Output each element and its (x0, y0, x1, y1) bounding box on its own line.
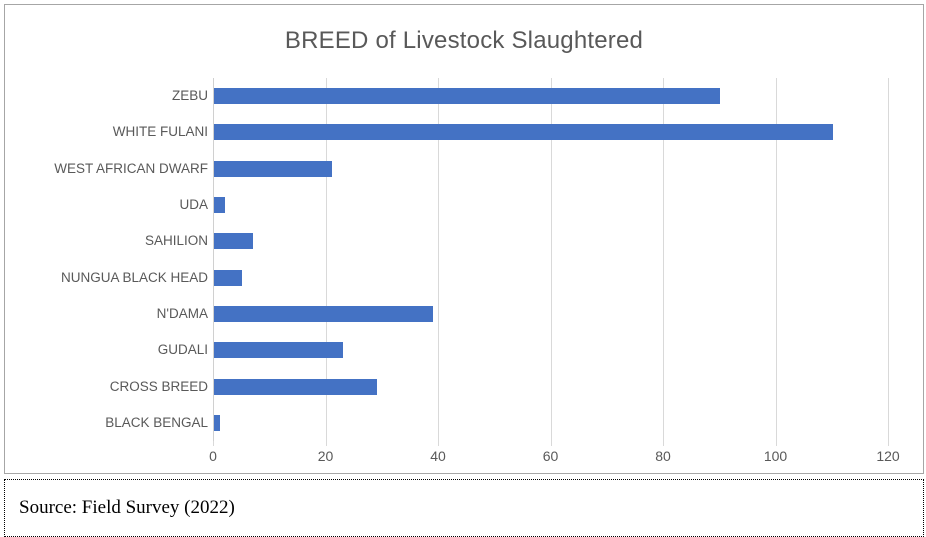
category-label-zebu: ZEBU (5, 89, 208, 103)
value-axis-label-20: 20 (318, 448, 334, 464)
category-label-west-african-dwarf: WEST AFRICAN DWARF (5, 162, 208, 176)
category-label-uda: UDA (5, 198, 208, 212)
value-axis-labels: 020406080100120 (213, 448, 888, 468)
category-label-white-fulani: WHITE FULANI (5, 125, 208, 139)
category-label-cross-breed: CROSS BREED (5, 380, 208, 394)
bar-nungua-black-head[interactable] (214, 270, 242, 286)
bar-white-fulani[interactable] (214, 124, 833, 140)
category-label-nungua-black-head: NUNGUA BLACK HEAD (5, 271, 208, 285)
bar-black-bengal[interactable] (214, 415, 220, 431)
value-axis-label-80: 80 (655, 448, 671, 464)
bar-west-african-dwarf[interactable] (214, 161, 332, 177)
bar-n-dama[interactable] (214, 306, 433, 322)
value-axis-label-120: 120 (876, 448, 899, 464)
tick-mark-120 (888, 441, 889, 446)
tick-mark-20 (326, 441, 327, 446)
tick-mark-40 (438, 441, 439, 446)
value-axis-label-100: 100 (764, 448, 787, 464)
bar-uda[interactable] (214, 197, 225, 213)
value-axis-label-0: 0 (209, 448, 217, 464)
category-label-sahilion: SAHILION (5, 234, 208, 248)
tick-mark-60 (551, 441, 552, 446)
value-axis-label-60: 60 (543, 448, 559, 464)
value-axis-label-40: 40 (430, 448, 446, 464)
category-label-n-dama: N'DAMA (5, 307, 208, 321)
tick-mark-100 (776, 441, 777, 446)
bar-zebu[interactable] (214, 88, 720, 104)
source-caption-box: Source: Field Survey (2022) (4, 479, 924, 537)
bar-sahilion[interactable] (214, 233, 253, 249)
bar-cross-breed[interactable] (214, 379, 377, 395)
bar-gudali[interactable] (214, 342, 343, 358)
bar-series (214, 78, 889, 441)
chart-page: BREED of Livestock Slaughtered ZEBUWHITE… (0, 0, 926, 537)
plot-area: ZEBUWHITE FULANIWEST AFRICAN DWARFUDASAH… (5, 5, 923, 473)
category-label-gudali: GUDALI (5, 343, 208, 357)
source-caption-text: Source: Field Survey (2022) (19, 497, 235, 519)
category-axis-labels: ZEBUWHITE FULANIWEST AFRICAN DWARFUDASAH… (5, 78, 208, 441)
tick-mark-80 (663, 441, 664, 446)
tick-mark-0 (213, 441, 214, 446)
category-label-black-bengal: BLACK BENGAL (5, 416, 208, 430)
chart-container: BREED of Livestock Slaughtered ZEBUWHITE… (4, 4, 924, 474)
